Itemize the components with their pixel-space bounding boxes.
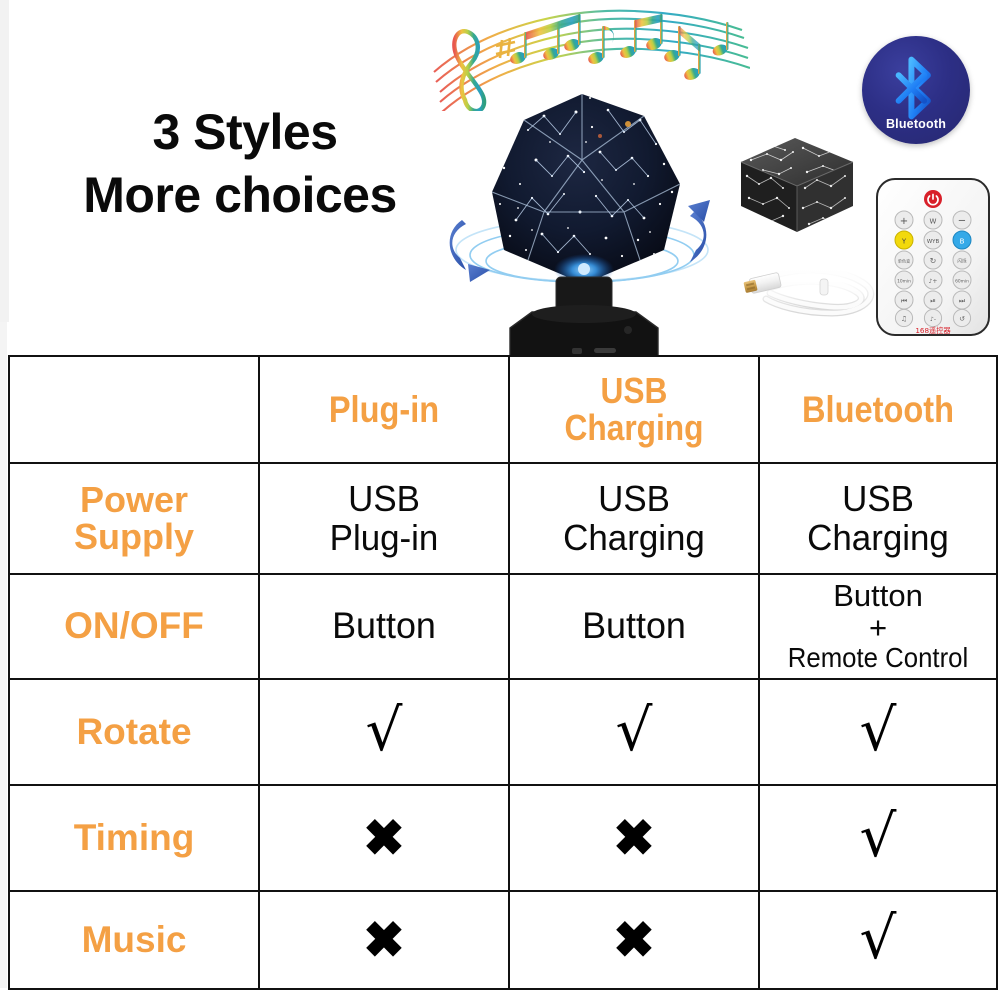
table-row: ON/OFF Button Button Button + Remote Con… [9, 574, 997, 679]
table-row: Power Supply USB Plug-in USB Charging US… [9, 463, 997, 574]
check-mark: √ [860, 807, 897, 865]
svg-text:Y: Y [901, 238, 907, 246]
bluetooth-badge-label: Bluetooth [862, 117, 970, 131]
svg-text:♪-: ♪- [930, 316, 936, 323]
row-label-power-supply: Power Supply [9, 463, 259, 574]
svg-text:60min: 60min [955, 278, 969, 284]
cell-rotate-plugin: √ [259, 679, 509, 785]
cell-timing-usb: ✖ [509, 785, 759, 891]
table-row: Music ✖ ✖ √ [9, 891, 997, 989]
cell-timing-bluetooth: √ [759, 785, 997, 891]
header-cell-bluetooth: Bluetooth [759, 356, 997, 463]
svg-text:+: + [900, 216, 908, 227]
cell-onoff-usb: Button [509, 574, 759, 679]
remote-footer-label: 168遥控器 [915, 326, 950, 335]
cell-onoff-plugin: Button [259, 574, 509, 679]
left-edge-band [0, 0, 9, 322]
table-header-row: Plug-in USB Charging Bluetooth [9, 356, 997, 463]
star-projector-lamp [432, 72, 722, 357]
cross-mark: ✖ [363, 915, 405, 965]
row-label-rotate: Rotate [9, 679, 259, 785]
svg-text:♫: ♫ [901, 315, 907, 323]
usb-cable [742, 243, 882, 331]
row-label-timing: Timing [9, 785, 259, 891]
constellation-gift-box [733, 128, 859, 242]
cell-onoff-bluetooth: Button + Remote Control [759, 574, 997, 679]
row-label-music: Music [9, 891, 259, 989]
remote-control: + W − Y WYB B 单色变 ↻ 闪烁 [872, 176, 994, 338]
cross-mark: ✖ [613, 813, 655, 863]
onoff-bt-line1: Button [762, 579, 994, 613]
headline-line-2: More choices [40, 169, 440, 222]
check-mark: √ [860, 909, 897, 967]
svg-text:↺: ↺ [959, 315, 965, 323]
bluetooth-badge: Bluetooth [862, 36, 970, 144]
comparison-table: Plug-in USB Charging Bluetooth Power Sup… [8, 355, 998, 990]
onoff-bt-plus: + [762, 611, 994, 645]
svg-text:闪烁: 闪烁 [957, 258, 967, 265]
svg-text:W: W [930, 218, 937, 226]
cross-mark: ✖ [363, 813, 405, 863]
svg-text:⏭: ⏭ [959, 297, 966, 305]
cell-music-bluetooth: √ [759, 891, 997, 989]
cell-music-usb: ✖ [509, 891, 759, 989]
header-cell-plugin: Plug-in [259, 356, 509, 463]
svg-text:10min: 10min [897, 278, 911, 284]
table-row: Rotate √ √ √ [9, 679, 997, 785]
left-edge-band-lower [0, 322, 7, 988]
bluetooth-icon [891, 56, 941, 125]
cell-power-bluetooth: USB Charging [759, 463, 997, 574]
check-mark: √ [616, 701, 653, 759]
headline-line-1: 3 Styles [40, 106, 440, 159]
check-mark: √ [366, 701, 403, 759]
onoff-bt-line3: Remote Control [771, 643, 984, 674]
cell-power-plugin: USB Plug-in [259, 463, 509, 574]
header-cell-usb-charging: USB Charging [509, 356, 759, 463]
cell-rotate-bluetooth: √ [759, 679, 997, 785]
svg-text:↻: ↻ [930, 257, 937, 266]
svg-text:⏮: ⏮ [901, 297, 907, 305]
cell-rotate-usb: √ [509, 679, 759, 785]
page-title: 3 Styles More choices [40, 106, 440, 222]
table-row: Timing ✖ ✖ √ [9, 785, 997, 891]
svg-text:⏯: ⏯ [930, 297, 936, 305]
row-label-onoff: ON/OFF [9, 574, 259, 679]
cell-timing-plugin: ✖ [259, 785, 509, 891]
header-cell-blank [9, 356, 259, 463]
cell-music-plugin: ✖ [259, 891, 509, 989]
cross-mark: ✖ [613, 915, 655, 965]
check-mark: √ [860, 701, 897, 759]
svg-text:B: B [960, 238, 965, 246]
infographic-page: Bluetooth [0, 0, 1000, 1000]
svg-text:WYB: WYB [927, 239, 940, 245]
svg-text:♪+: ♪+ [929, 278, 938, 285]
svg-text:单色变: 单色变 [898, 258, 911, 265]
cell-power-usb: USB Charging [509, 463, 759, 574]
svg-text:−: − [958, 216, 966, 227]
